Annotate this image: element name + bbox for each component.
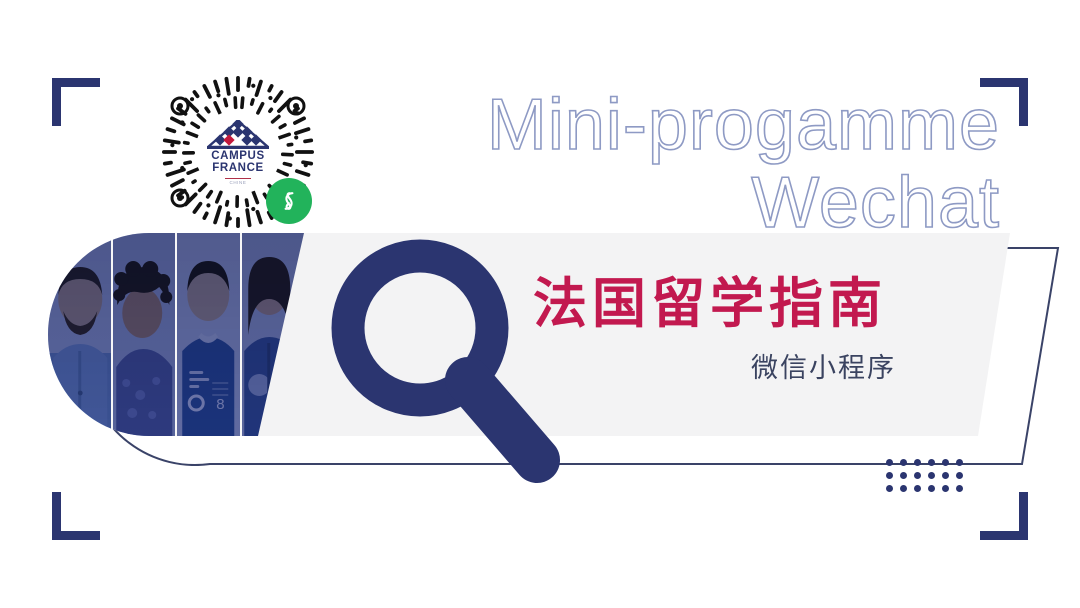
campus-france-pyramid-icon (207, 120, 269, 150)
campus-france-line2: FRANCE (212, 163, 264, 175)
list-item: 8 (177, 233, 242, 436)
banner-title-cn: 法国留学指南 (533, 275, 887, 333)
corner-bracket-top-left (52, 78, 100, 126)
campus-france-line1: CAMPUS (211, 151, 264, 163)
corner-bracket-bottom-right (980, 492, 1028, 540)
campus-france-region: CHINE (225, 178, 251, 185)
photo-duotone-overlay (48, 233, 111, 436)
wechat-mini-program-badge[interactable] (266, 178, 312, 224)
banner: 8 (48, 233, 1010, 436)
photo-duotone-overlay (177, 233, 240, 436)
qr-code-block[interactable]: CAMPUS FRANCE CHINE (152, 66, 324, 238)
wechat-mini-program-icon (275, 187, 303, 215)
poster-canvas: CAMPUS FRANCE CHINE Mini-progamme Wechat (0, 0, 1080, 608)
page-title-line1: Mini-progamme (400, 86, 1000, 164)
page-title: Mini-progamme Wechat (400, 86, 1000, 242)
banner-subtitle-cn: 微信小程序 (751, 353, 896, 383)
list-item (48, 233, 113, 436)
corner-bracket-bottom-left (52, 492, 100, 540)
search-icon[interactable] (316, 228, 576, 488)
decorative-dot-grid (886, 459, 970, 498)
list-item (113, 233, 178, 436)
campus-france-logo: CAMPUS FRANCE CHINE (195, 110, 281, 194)
photo-duotone-overlay (113, 233, 176, 436)
